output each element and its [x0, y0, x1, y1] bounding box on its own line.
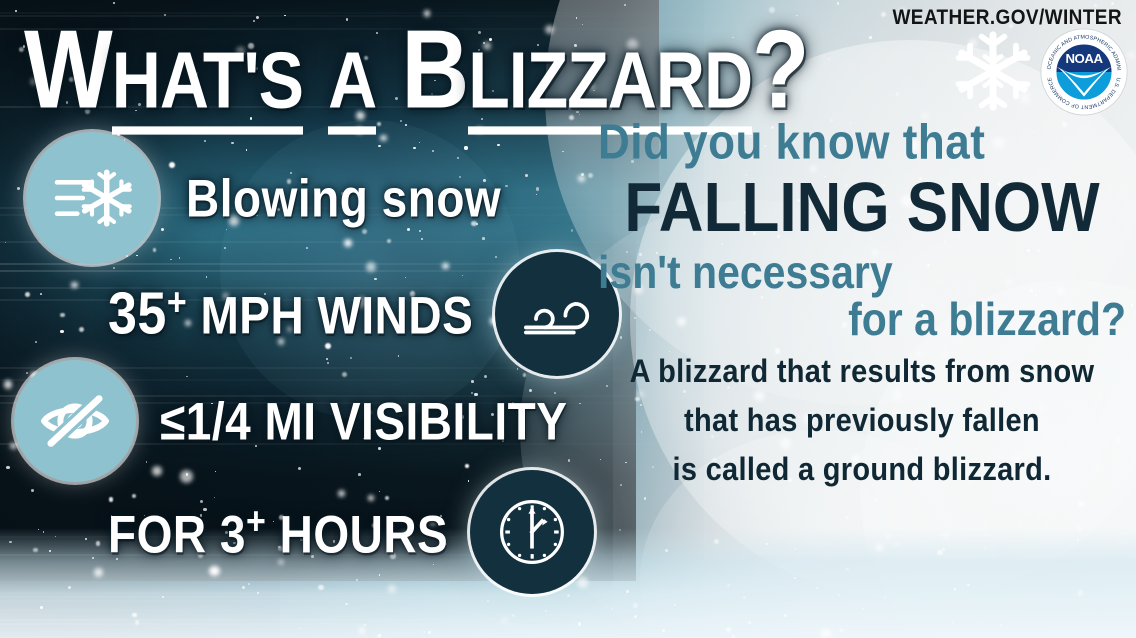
site-url: WEATHER.GOV/WINTER	[892, 6, 1122, 31]
blowing-snow-icon	[26, 132, 158, 264]
no-visibility-icon	[14, 360, 136, 482]
title-hats: HAT'S	[112, 36, 303, 135]
fact-paragraph-line: is called a ground blizzard.	[598, 454, 1126, 486]
infographic-canvas: WEATHER.GOV/WINTER	[0, 0, 1136, 638]
duration-pre: FOR 3	[108, 504, 246, 564]
fact-line-4: for a blizzard?	[598, 297, 1126, 343]
fact-paragraph: A blizzard that results from snow that h…	[598, 358, 1126, 485]
fact-paragraph-line: that has previously fallen	[598, 405, 1126, 437]
criteria-label-visibility: ≤1/4 MI VISIBILITY	[160, 390, 567, 452]
fact-line-1: Did you know that	[598, 118, 1126, 167]
wind-speed-value: 35	[108, 281, 167, 348]
duration-rest: HOURS	[266, 504, 448, 564]
title-question: ?	[752, 7, 808, 131]
criteria-row-duration: FOR 3+ HOURS	[108, 470, 594, 594]
wind-speed-plus: +	[167, 281, 187, 325]
title-a: A	[328, 36, 376, 135]
title-w: W	[24, 7, 112, 131]
fact-line-2: FALLING SNOW	[598, 174, 1126, 243]
noaa-wordmark: NOAA	[1065, 51, 1103, 66]
fact-panel: Did you know that FALLING SNOW isn't nec…	[598, 118, 1126, 505]
criteria-row-visibility: ≤1/4 MI VISIBILITY	[14, 360, 567, 482]
criteria-label-duration: FOR 3+ HOURS	[108, 499, 448, 565]
duration-plus: +	[246, 499, 266, 543]
noaa-logo: NATIONAL OCEANIC AND ATMOSPHERIC ADMINIS…	[1040, 28, 1128, 116]
criteria-row-blowing-snow: Blowing snow	[26, 132, 501, 264]
fact-paragraph-line: A blizzard that results from snow	[598, 356, 1126, 388]
criteria-label-blowing-snow: Blowing snow	[186, 167, 501, 229]
criteria-row-winds: 35+ MPH WINDS	[108, 252, 619, 376]
snowflake-icon	[952, 30, 1034, 112]
criteria-label-winds: 35+ MPH WINDS	[108, 280, 473, 349]
clock-icon	[470, 470, 594, 594]
title-b: B	[401, 7, 468, 131]
wind-speed-unit: MPH WINDS	[187, 285, 473, 345]
fact-line-3: isn't necessary	[598, 250, 1126, 296]
